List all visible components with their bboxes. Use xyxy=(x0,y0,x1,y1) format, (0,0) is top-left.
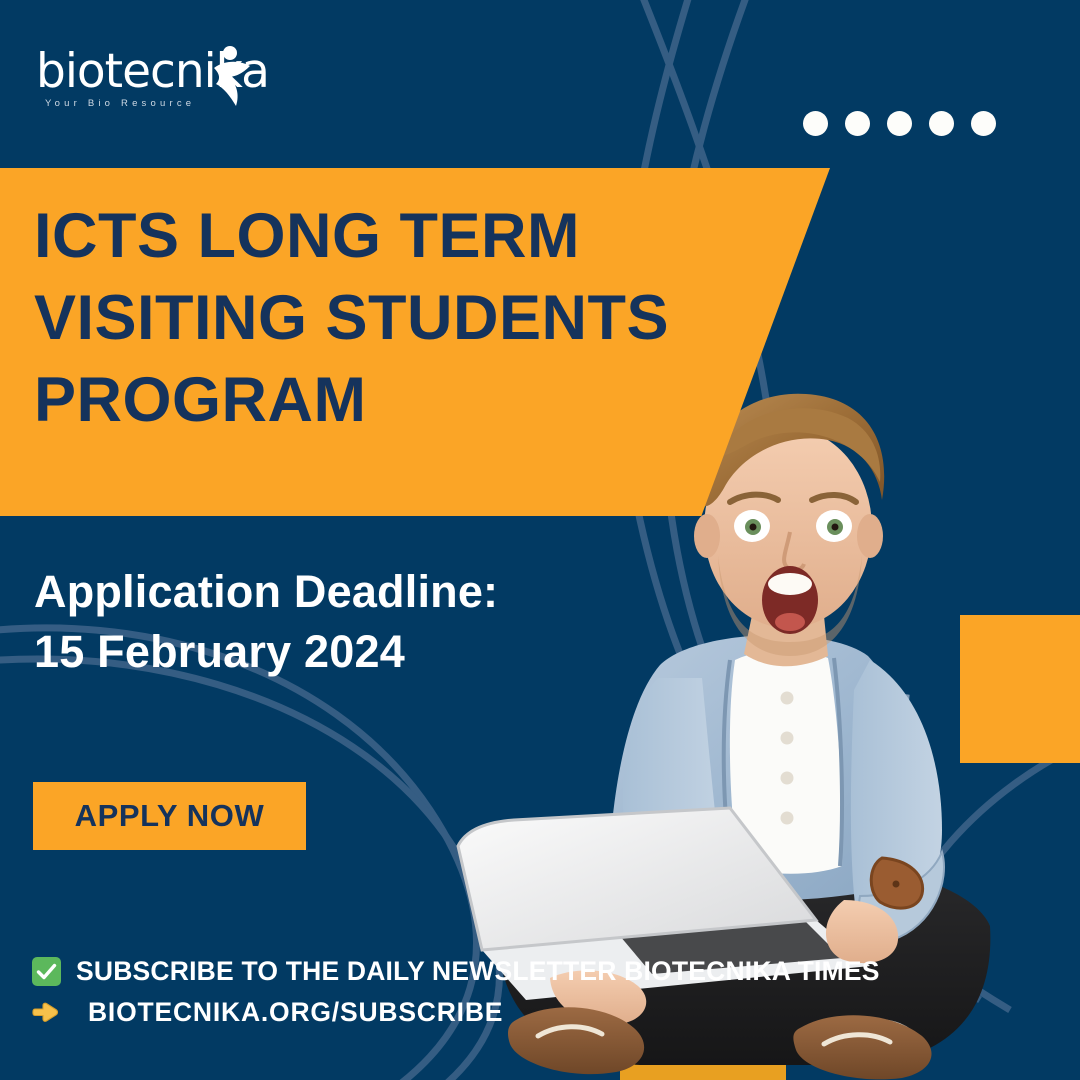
headline-line-1: ICTS LONG TERM xyxy=(34,196,774,278)
page-title: ICTS LONG TERM VISITING STUDENTS PROGRAM xyxy=(34,196,774,442)
logo-human-figure-icon xyxy=(200,44,262,108)
promotional-poster: biotecnika Your Bio Resource ICTS LONG T… xyxy=(0,0,1080,1080)
headline-line-3: PROGRAM xyxy=(34,360,774,442)
deadline-date: 15 February 2024 xyxy=(34,622,498,682)
application-deadline: Application Deadline: 15 February 2024 xyxy=(34,562,498,682)
pointing-right-hand-icon xyxy=(32,1000,66,1025)
headline-line-2: VISITING STUDENTS xyxy=(34,278,774,360)
dot xyxy=(929,111,954,136)
footer-subscribe-line: SUBSCRIBE TO THE DAILY NEWSLETTER BIOTEC… xyxy=(32,956,880,987)
footer-subscribe-text: SUBSCRIBE TO THE DAILY NEWSLETTER BIOTEC… xyxy=(76,956,880,987)
apply-now-button[interactable]: APPLY NOW xyxy=(33,782,306,850)
dot xyxy=(845,111,870,136)
dots-decoration xyxy=(803,111,996,136)
footer-url-text: BIOTECNIKA.ORG/SUBSCRIBE xyxy=(88,997,503,1028)
footer: SUBSCRIBE TO THE DAILY NEWSLETTER BIOTEC… xyxy=(32,956,880,1028)
deadline-label: Application Deadline: xyxy=(34,562,498,622)
dot xyxy=(887,111,912,136)
dot xyxy=(803,111,828,136)
footer-url-line[interactable]: BIOTECNIKA.ORG/SUBSCRIBE xyxy=(32,997,880,1028)
check-mark-button-icon xyxy=(32,957,66,986)
brand-logo: biotecnika Your Bio Resource xyxy=(36,48,269,109)
dot xyxy=(971,111,996,136)
